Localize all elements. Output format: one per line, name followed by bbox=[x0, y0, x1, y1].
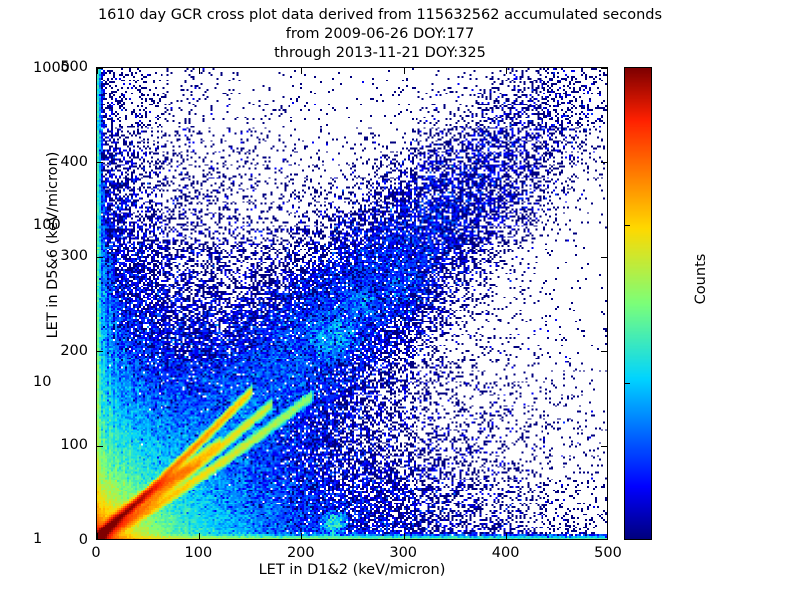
x-axis-label: LET in D1&2 (keV/micron) bbox=[96, 562, 608, 578]
x-tick-label: 0 bbox=[91, 545, 100, 561]
x-tick-mark bbox=[199, 68, 200, 74]
x-tick-mark bbox=[301, 68, 302, 74]
x-tick-label: 300 bbox=[389, 545, 417, 561]
x-tick-mark bbox=[96, 68, 97, 74]
colorbar-tick-label: 100 bbox=[33, 217, 61, 233]
colorbar-tick-mark bbox=[625, 225, 630, 226]
y-tick-mark bbox=[601, 351, 607, 352]
plot-title: 1610 day GCR cross plot data derived fro… bbox=[0, 6, 760, 63]
colorbar-group bbox=[624, 67, 652, 540]
y-tick-mark bbox=[601, 162, 607, 163]
y-tick-mark bbox=[97, 351, 103, 352]
title-line-1: 1610 day GCR cross plot data derived fro… bbox=[0, 6, 760, 25]
x-tick-label: 500 bbox=[594, 545, 622, 561]
colorbar-tick-label: 10 bbox=[33, 374, 51, 390]
y-tick-mark bbox=[97, 162, 103, 163]
colorbar-gradient bbox=[625, 68, 651, 539]
x-tick-mark bbox=[404, 533, 405, 539]
x-tick-label: 200 bbox=[287, 545, 315, 561]
x-tick-mark bbox=[506, 68, 507, 74]
x-tick-mark bbox=[301, 533, 302, 539]
y-tick-mark bbox=[601, 257, 607, 258]
y-tick-label: 100 bbox=[30, 437, 88, 453]
colorbar-tick-label: 1000 bbox=[33, 60, 70, 76]
y-tick-mark bbox=[97, 67, 103, 68]
y-axis-label: LET in D5&6 (keV/micron) bbox=[45, 95, 61, 395]
y-tick-mark bbox=[97, 257, 103, 258]
x-tick-mark bbox=[506, 533, 507, 539]
figure-canvas: 1610 day GCR cross plot data derived fro… bbox=[0, 0, 800, 600]
colorbar-tick-label: 1 bbox=[33, 531, 42, 547]
x-tick-mark bbox=[199, 533, 200, 539]
colorbar-tick-mark bbox=[625, 383, 630, 384]
density-heatmap bbox=[97, 68, 607, 539]
colorbar-label: Counts bbox=[693, 199, 709, 359]
title-line-3: through 2013-11-21 DOY:325 bbox=[0, 44, 760, 63]
y-tick-mark bbox=[97, 446, 103, 447]
x-tick-label: 400 bbox=[492, 545, 520, 561]
y-tick-mark bbox=[601, 446, 607, 447]
title-line-2: from 2009-06-26 DOY:177 bbox=[0, 25, 760, 44]
plot-axes[interactable] bbox=[96, 67, 608, 540]
colorbar[interactable] bbox=[624, 67, 652, 540]
x-tick-mark bbox=[404, 68, 405, 74]
y-tick-mark bbox=[601, 67, 607, 68]
x-tick-mark bbox=[96, 533, 97, 539]
x-tick-label: 100 bbox=[185, 545, 213, 561]
